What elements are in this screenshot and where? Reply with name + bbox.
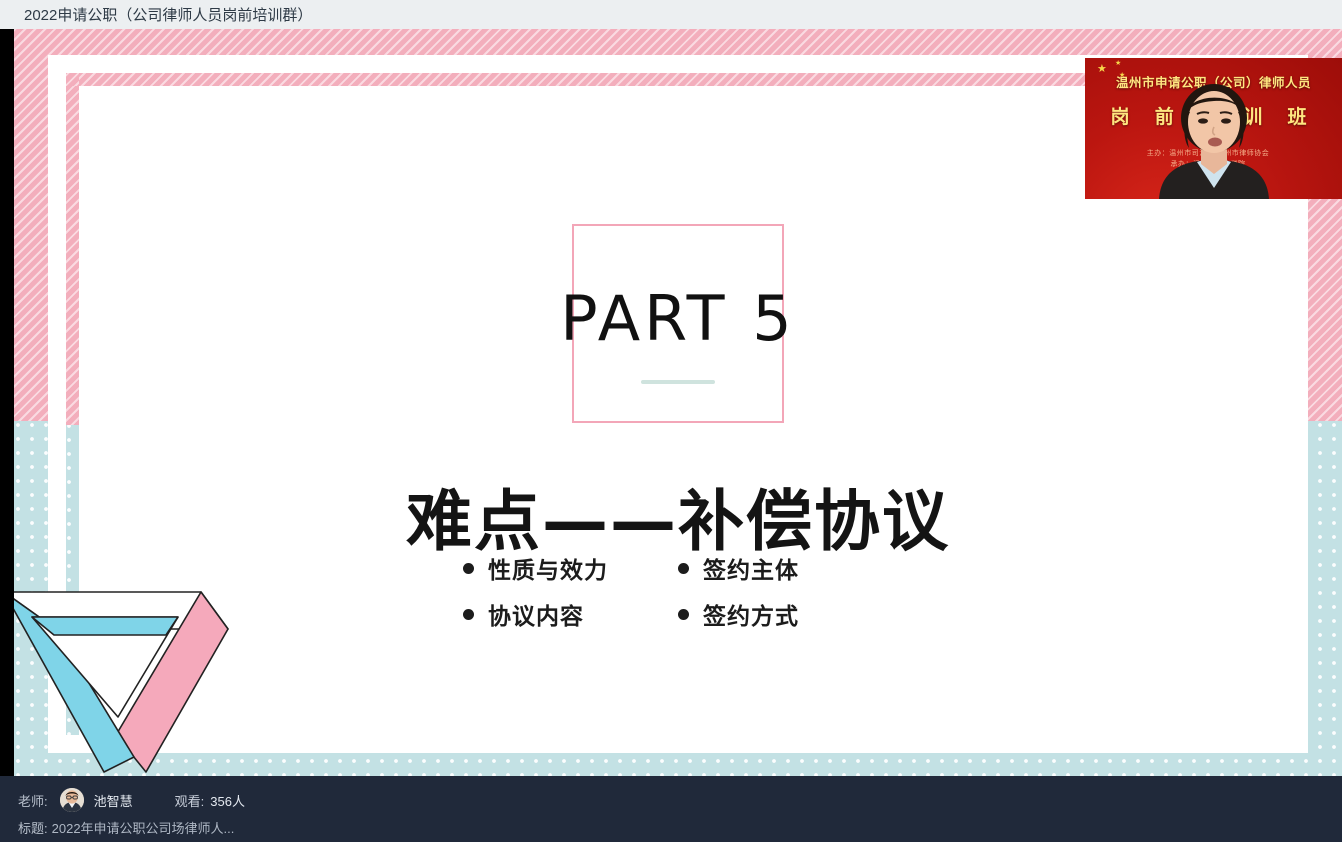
avatar-photo (60, 788, 84, 812)
slide-headline: 难点——补偿协议 (79, 468, 1277, 564)
views-value: 356人 (210, 791, 245, 810)
avatar[interactable] (60, 788, 84, 812)
bullet-dot-icon (678, 609, 689, 620)
window-title: 2022申请公职（公司律师人员岗前培训群） (24, 4, 312, 25)
bullet-dot-icon (463, 563, 474, 574)
bullet-label: 性质与效力 (488, 551, 608, 585)
stream-title-value: 2022年申请公职公司场律师人... (52, 818, 235, 837)
penrose-triangle-decoration (14, 557, 241, 776)
bullet-label: 协议内容 (488, 597, 584, 631)
bullet-item: 签约主体 (678, 551, 893, 585)
app-root: 2022申请公职（公司律师人员岗前培训群） PART 5 难点——补偿协议 (0, 0, 1342, 842)
bullet-label: 签约主体 (703, 551, 799, 585)
part-label: PART 5 (398, 282, 958, 355)
part-underline-dash (641, 380, 715, 384)
teacher-label: 老师: (18, 791, 48, 810)
slide-bullet-list: 性质与效力 签约主体 协议内容 签约方式 (463, 551, 893, 631)
bullet-label: 签约方式 (703, 597, 799, 631)
bullet-item: 性质与效力 (463, 551, 678, 585)
bullet-item: 协议内容 (463, 597, 678, 631)
teacher-name: 池智慧 (94, 791, 133, 810)
title-row: 标题: 2022年申请公职公司场律师人... (18, 818, 234, 837)
bullet-dot-icon (463, 609, 474, 620)
bullet-item: 签约方式 (678, 597, 893, 631)
teacher-row: 老师: 池智慧 观看: 356人 (18, 788, 245, 812)
bullet-dot-icon (678, 563, 689, 574)
stream-info-bar: 老师: 池智慧 观看: 356人 标题: 2022年申请公职公司场律师人... (0, 776, 1342, 842)
views-label: 观看: (175, 791, 205, 810)
presenter-figure (1149, 82, 1279, 199)
presenter-video-overlay[interactable]: ★ ★ ★ 温州市申请公职（公司）律师人员 岗 前 培 训 班 主办：温州市司法… (1085, 58, 1342, 199)
stream-title-label: 标题: (18, 818, 48, 837)
window-titlebar: 2022申请公职（公司律师人员岗前培训群） (0, 0, 1342, 29)
part-block: PART 5 (79, 224, 1277, 434)
presentation-stage[interactable]: PART 5 难点——补偿协议 性质与效力 签约主体 (0, 29, 1342, 776)
star-icon: ★ (1115, 60, 1121, 67)
